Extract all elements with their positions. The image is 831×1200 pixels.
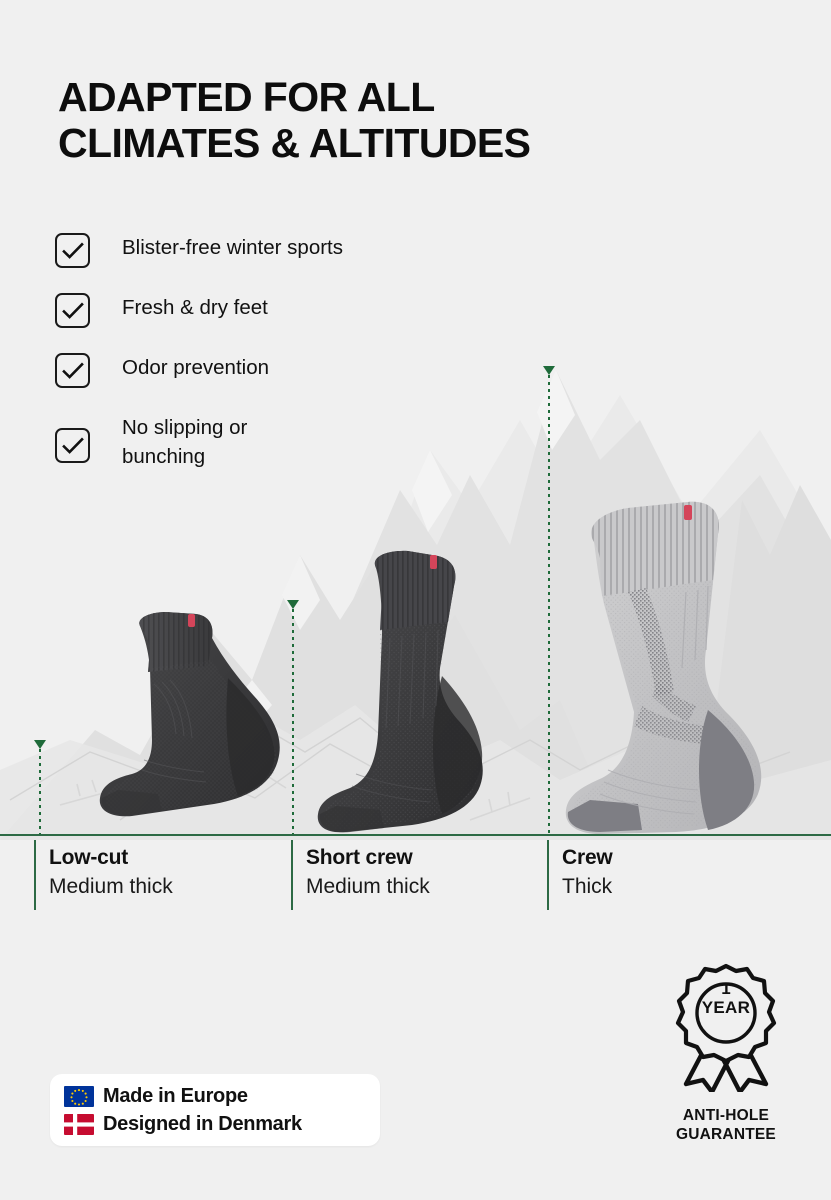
sock-image-crew [556,500,786,840]
label-tick-mark [547,840,549,910]
height-marker-crew [543,366,555,835]
checklist-item-blister-free: Blister-free winter sports [55,232,485,268]
comparison-baseline [0,834,831,836]
checklist-item-label: Fresh & dry feet [122,292,268,322]
size-label-crew: Crew Thick [547,840,613,901]
checklist-item-odor-prevention: Odor prevention [55,352,485,388]
height-marker-dotted-line [292,609,294,835]
checkbox-checked-icon [55,353,90,388]
feature-checklist: Blister-free winter sports Fresh & dry f… [55,232,485,471]
checklist-item-fresh-dry: Fresh & dry feet [55,292,485,328]
guarantee-caption: ANTI-HOLE GUARANTEE [646,1106,806,1144]
size-label-name: Crew [562,840,613,872]
checklist-item-no-slipping: No slipping or bunching [55,412,485,471]
checkbox-checked-icon [55,428,90,463]
infographic-page: ADAPTED FOR ALL CLIMATES & ALTITUDES Bli… [0,0,831,1200]
page-title: ADAPTED FOR ALL CLIMATES & ALTITUDES [58,75,698,167]
height-marker-short-crew [287,600,299,835]
height-marker-low-cut [34,740,46,835]
designed-in-label: Designed in Denmark [103,1111,302,1137]
made-in-row: Made in Europe [64,1082,302,1110]
award-rosette-icon [646,962,806,1097]
height-marker-dotted-line [39,749,41,835]
size-label-thickness: Medium thick [49,872,173,901]
checklist-item-label: Blister-free winter sports [122,232,343,262]
checkbox-checked-icon [55,293,90,328]
height-marker-triangle-icon [543,366,555,375]
checklist-item-label: No slipping or bunching [122,412,247,471]
label-tick-mark [34,840,36,910]
height-marker-triangle-icon [34,740,46,749]
height-marker-dotted-line [548,375,550,835]
size-label-thickness: Thick [562,872,613,901]
anti-hole-guarantee-badge: 1 YEAR ANTI-HOLE GUARANTEE [646,962,806,1144]
size-label-name: Low-cut [49,840,173,872]
size-label-name: Short crew [306,840,430,872]
label-tick-mark [291,840,293,910]
size-label-thickness: Medium thick [306,872,430,901]
size-label-low-cut: Low-cut Medium thick [34,840,173,901]
eu-flag-icon [64,1086,94,1107]
height-marker-triangle-icon [287,600,299,609]
sock-image-short-crew [312,548,512,840]
checkbox-checked-icon [55,233,90,268]
checklist-item-label: Odor prevention [122,352,269,382]
made-in-europe-badge: Made in Europe Designed in Denmark [50,1074,380,1146]
size-label-short-crew: Short crew Medium thick [291,840,430,901]
designed-in-row: Designed in Denmark [64,1110,302,1138]
made-in-label: Made in Europe [103,1083,248,1109]
denmark-flag-icon [64,1114,94,1135]
